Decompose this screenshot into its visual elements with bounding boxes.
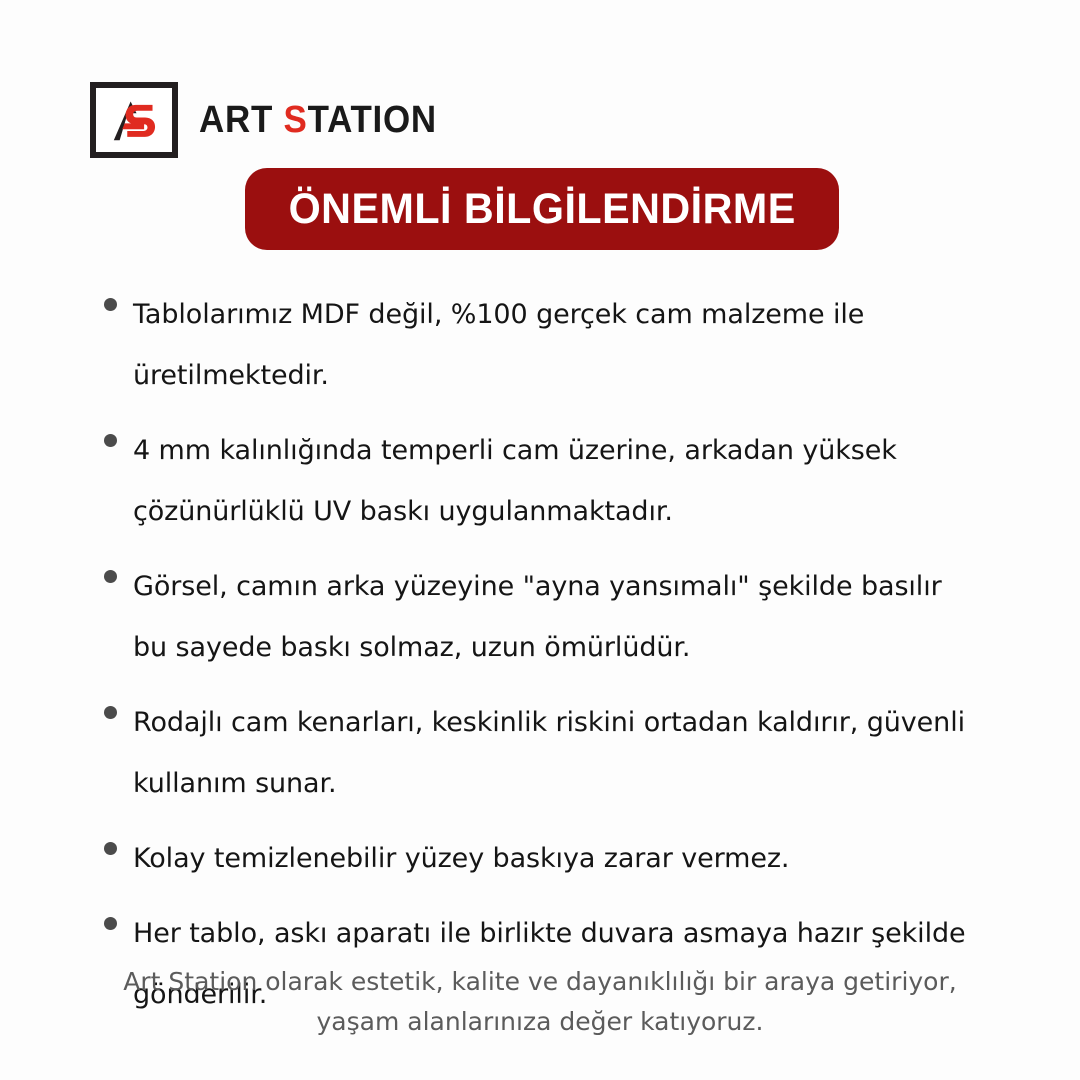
list-item-text: Tablolarımız MDF değil, %100 gerçek cam … — [133, 284, 1024, 406]
bullet-dot-icon — [104, 298, 117, 311]
wordmark-suffix: TATION — [308, 99, 437, 141]
list-item-text: Görsel, camın arka yüzeyine "ayna yansım… — [133, 556, 942, 678]
important-notice-banner: ÖNEMLİ BİLGİLENDİRME — [245, 168, 839, 250]
footer-slogan: Art Station olarak estetik, kalite ve da… — [0, 962, 1080, 1042]
list-item-text: Rodajlı cam kenarları, keskinlik riskini… — [133, 692, 965, 814]
brand-lockup: ART STATION — [90, 82, 458, 158]
banner-title: ÖNEMLİ BİLGİLENDİRME — [288, 188, 795, 231]
bullet-dot-icon — [104, 917, 117, 930]
list-item-text: 4 mm kalınlığında temperli cam üzerine, … — [133, 420, 897, 542]
bullet-dot-icon — [104, 706, 117, 719]
info-bullet-list: Tablolarımız MDF değil, %100 gerçek cam … — [104, 284, 1024, 1039]
brand-wordmark: ART STATION — [199, 101, 437, 139]
bullet-dot-icon — [104, 842, 117, 855]
list-item-text: Kolay temizlenebilir yüzey baskıya zarar… — [133, 828, 789, 889]
poster-canvas: ART STATION ÖNEMLİ BİLGİLENDİRME Tablola… — [0, 0, 1080, 1080]
list-item: Tablolarımız MDF değil, %100 gerçek cam … — [104, 284, 1024, 406]
wordmark-prefix: ART — [199, 99, 284, 141]
bullet-dot-icon — [104, 570, 117, 583]
as-monogram-icon — [90, 82, 178, 158]
bullet-dot-icon — [104, 434, 117, 447]
list-item: 4 mm kalınlığında temperli cam üzerine, … — [104, 420, 1024, 542]
list-item: Kolay temizlenebilir yüzey baskıya zarar… — [104, 828, 1024, 889]
list-item: Rodajlı cam kenarları, keskinlik riskini… — [104, 692, 1024, 814]
wordmark-accent-letter: S — [284, 99, 308, 141]
list-item: Görsel, camın arka yüzeyine "ayna yansım… — [104, 556, 1024, 678]
